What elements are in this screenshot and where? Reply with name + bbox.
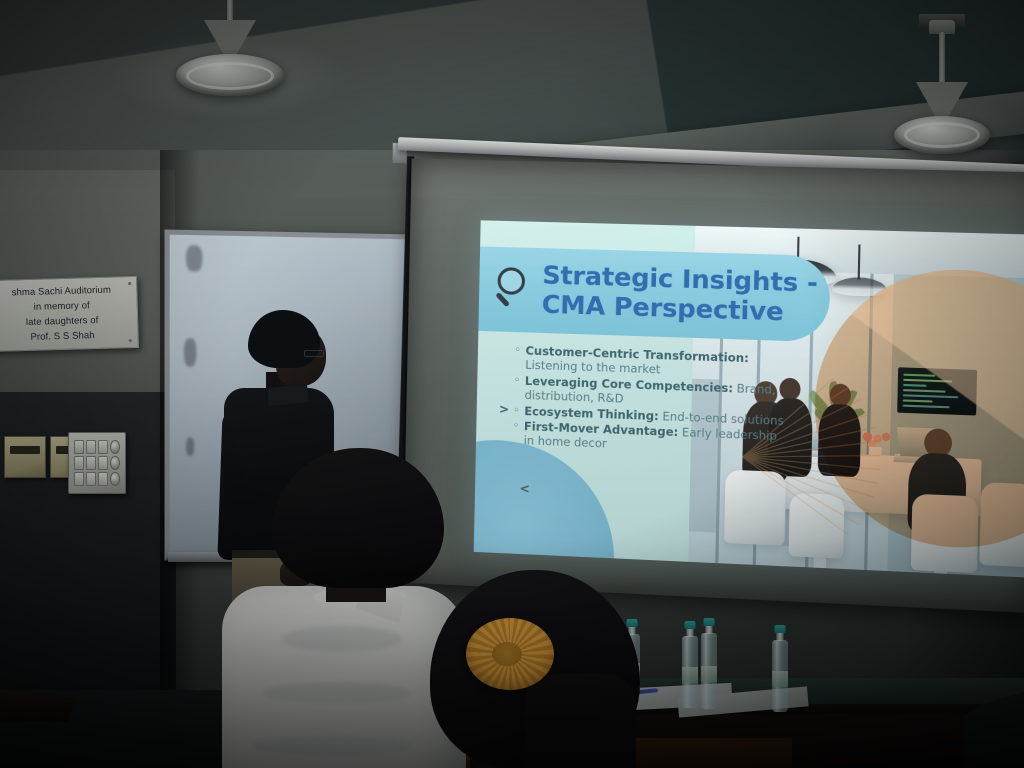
fan-regulator-knob[interactable] <box>110 472 120 486</box>
bottle-cap <box>775 625 786 633</box>
magnifier-lens <box>497 267 525 295</box>
fan-regulator-knob[interactable] <box>110 440 120 454</box>
auditorium-scene: shma Sachi Auditorium in memory of late … <box>0 0 1024 768</box>
whiteboard-smudge <box>186 438 194 456</box>
audience-member-bun <box>430 570 650 768</box>
slide-bullet-list: Customer-Centric Transformation: Listeni… <box>512 344 793 461</box>
light-switch[interactable] <box>86 440 96 454</box>
bottle-cap <box>685 621 696 629</box>
ceiling-fan-right <box>872 20 1012 150</box>
audience-hair <box>272 448 444 588</box>
slide-title: Strategic Insights - CMA Perspective <box>541 248 854 345</box>
wall-socket-left[interactable] <box>4 436 46 478</box>
light-switch[interactable] <box>98 456 108 470</box>
fan-hub-ring <box>186 62 274 90</box>
scrunchie-center <box>492 642 522 666</box>
shirt-fold <box>282 626 402 652</box>
magnifying-glass-icon <box>495 267 536 313</box>
plaque-line-4: Prof. S S Shah <box>0 327 132 346</box>
bottle-neck <box>687 628 694 637</box>
socket-slot <box>10 446 40 454</box>
plaque-screw <box>129 339 132 342</box>
whiteboard-smudge <box>186 245 202 272</box>
bottle-neck <box>706 625 713 634</box>
bottle-label <box>682 667 698 683</box>
light-switch[interactable] <box>74 472 84 486</box>
bottle-label <box>701 666 717 682</box>
presenter-glasses <box>304 350 324 357</box>
light-switch[interactable] <box>98 472 108 486</box>
light-switch[interactable] <box>74 440 84 454</box>
shirt-fold <box>262 682 412 704</box>
shirt-fold <box>252 736 412 756</box>
bullet-rest: Listening to the market <box>525 359 660 377</box>
bottle-label <box>772 671 788 687</box>
slide-cursor-mark: > <box>499 402 509 416</box>
light-switch-panel[interactable] <box>68 432 126 494</box>
light-switch[interactable] <box>74 456 84 470</box>
audience-ponytail <box>526 674 636 768</box>
whiteboard-smudge <box>184 338 196 366</box>
memorial-plaque: shma Sachi Auditorium in memory of late … <box>0 276 139 352</box>
presenter-hair <box>248 310 320 368</box>
light-switch[interactable] <box>86 472 96 486</box>
presentation-slide: Strategic Insights - CMA Perspective Cus… <box>474 220 1024 578</box>
fan-regulator-knob[interactable] <box>110 456 120 470</box>
fan-hub-ring <box>904 122 980 148</box>
light-switch[interactable] <box>98 440 108 454</box>
ceiling-fan-left <box>150 0 310 100</box>
bottle-cap <box>704 618 715 626</box>
plaque-screw <box>128 282 131 285</box>
bottle-neck <box>777 632 784 641</box>
light-switch[interactable] <box>86 456 96 470</box>
